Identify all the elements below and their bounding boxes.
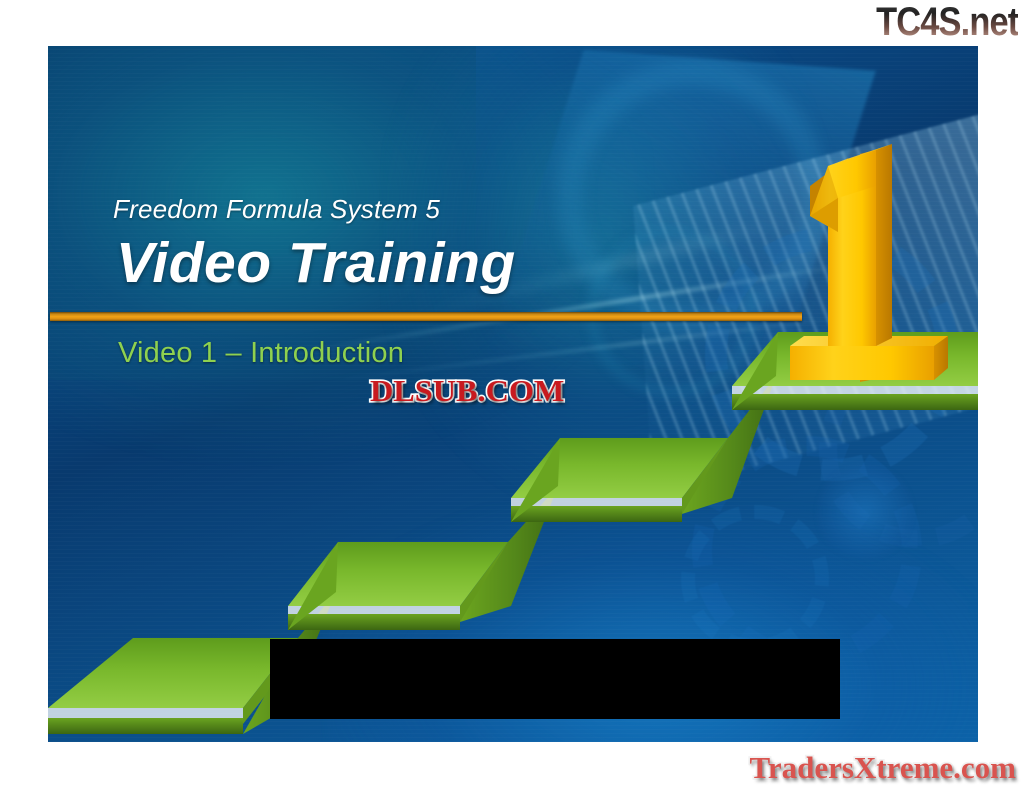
slide-eyebrow-text: Freedom Formula System 5 <box>113 194 440 225</box>
title-divider-bar <box>50 312 802 321</box>
tradersxtreme-site-watermark: TradersXtreme.com <box>749 751 1016 785</box>
slide-title: Video Training <box>116 230 516 296</box>
gold-numeral-one <box>790 144 948 382</box>
dlsub-overlay-watermark: DLSUB.COM <box>370 375 564 406</box>
redaction-bar <box>270 639 840 719</box>
tc4s-site-watermark: TC4S.net <box>876 2 1018 42</box>
presentation-slide: Freedom Formula System 5 Video Training … <box>48 46 978 742</box>
slide-subtitle: Video 1 – Introduction <box>118 337 404 370</box>
